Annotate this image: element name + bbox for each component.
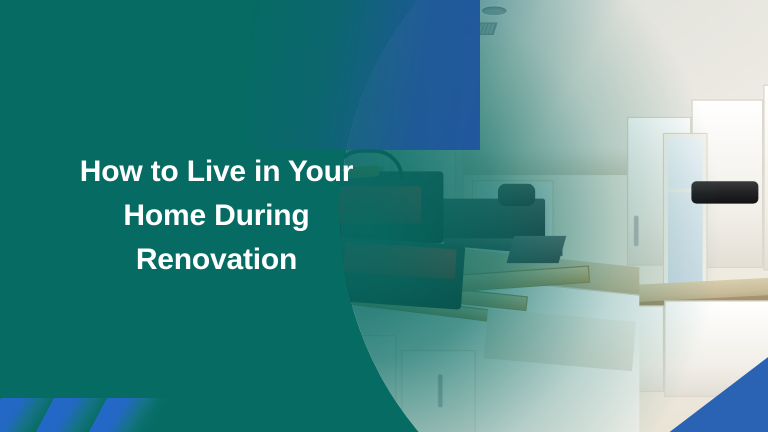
decorative-stripes [0,386,160,432]
page-title: How to Live in Your Home During Renovati… [24,150,409,282]
drawer-handle [359,360,363,392]
headline-line-1: How to Live in Your [24,150,409,194]
banner-canvas: How to Live in Your Home During Renovati… [0,0,768,432]
headline-line-3: Renovation [24,238,409,282]
headline-line-2: Home During [24,194,409,238]
